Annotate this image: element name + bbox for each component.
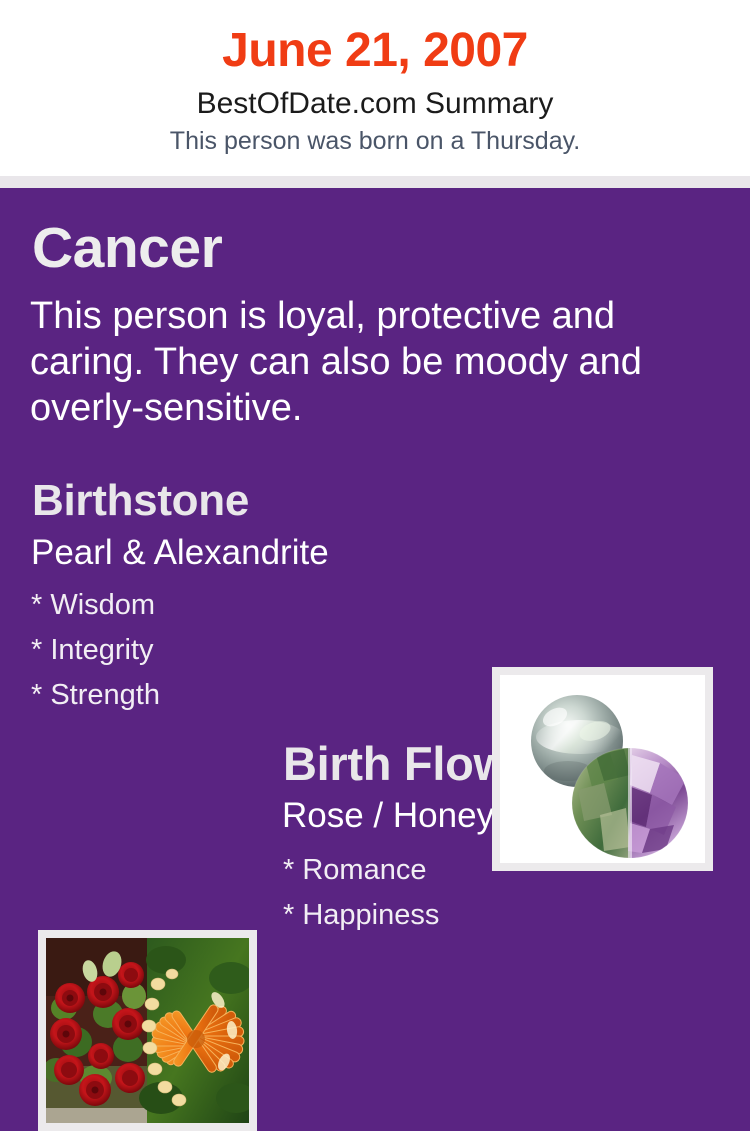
site-name: BestOfDate.com Summary	[0, 80, 750, 122]
birthstone-name: Pearl & Alexandrite	[31, 533, 329, 573]
birth-flower-trait-list: * Romance * Happiness	[283, 848, 439, 938]
list-item: * Wisdom	[31, 583, 160, 628]
date-summary-card: June 21, 2007 BestOfDate.com Summary Thi…	[0, 0, 750, 1000]
birth-flower-image	[46, 938, 249, 1123]
zodiac-sign-title: Cancer	[32, 218, 222, 278]
birth-flower-image-frame	[38, 930, 257, 1131]
list-item: * Romance	[283, 848, 439, 893]
page-title-date: June 21, 2007	[0, 0, 750, 80]
birthstone-heading: Birthstone	[32, 476, 249, 526]
birthstone-image-frame	[492, 667, 713, 871]
zodiac-description: This person is loyal, protective and car…	[30, 293, 670, 431]
list-item: * Integrity	[31, 628, 160, 673]
birthstone-illustration	[500, 675, 705, 863]
header-divider	[0, 176, 750, 188]
summary-panel: Cancer This person is loyal, protective …	[0, 188, 750, 1000]
birth-flower-illustration	[46, 938, 249, 1123]
birthstone-image	[500, 675, 705, 863]
list-item: * Strength	[31, 673, 160, 718]
list-item: * Happiness	[283, 893, 439, 938]
header: June 21, 2007 BestOfDate.com Summary Thi…	[0, 0, 750, 176]
birthstone-trait-list: * Wisdom * Integrity * Strength	[31, 583, 160, 718]
born-day-text: This person was born on a Thursday.	[0, 122, 750, 157]
